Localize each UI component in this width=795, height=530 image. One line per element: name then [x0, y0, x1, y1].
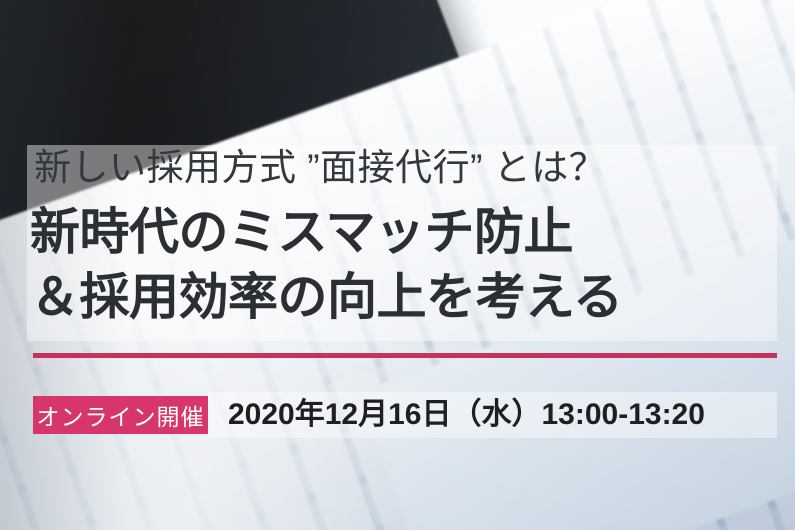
online-event-badge: オンライン開催	[33, 396, 208, 434]
banner-headline-line-1: 新時代のミスマッチ防止	[30, 207, 573, 257]
banner-subtitle: 新しい採用方式 ”面接代行” とは？	[34, 149, 606, 186]
banner-headline-line-2: ＆採用効率の向上を考える	[30, 272, 623, 322]
webinar-banner: 新しい採用方式 ”面接代行” とは？ 新時代のミスマッチ防止 ＆採用効率の向上を…	[0, 0, 795, 530]
event-datetime: 2020年12月16日（水）13:00-13:20	[228, 396, 705, 434]
divider-rule	[33, 353, 777, 358]
